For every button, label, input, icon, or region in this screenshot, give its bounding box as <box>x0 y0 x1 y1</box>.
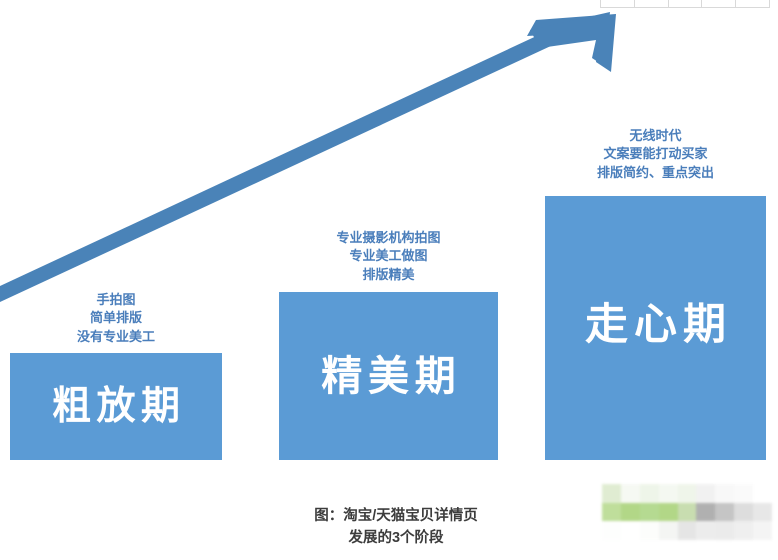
watermark-tile <box>602 484 621 503</box>
watermark-tile <box>640 521 659 540</box>
watermark-tile <box>696 521 715 540</box>
stage-1-label: 粗放期 <box>47 387 186 426</box>
grid-cell <box>601 0 635 7</box>
watermark-tile <box>678 503 697 522</box>
stage-1-annotation: 手拍图 简单排版 没有专业美工 <box>10 291 222 346</box>
watermark-tile <box>715 484 734 503</box>
annotation-line: 简单排版 <box>10 309 222 327</box>
watermark-tile <box>696 484 715 503</box>
watermark-tile <box>621 484 640 503</box>
blurred-watermark <box>602 484 772 540</box>
stage-2-label: 精美期 <box>316 356 462 397</box>
watermark-tile <box>678 521 697 540</box>
watermark-tile <box>659 484 678 503</box>
stage-2-annotation: 专业摄影机构拍图 专业美工做图 排版精美 <box>279 229 498 284</box>
grid-cell <box>635 0 669 7</box>
watermark-tile <box>640 484 659 503</box>
watermark-tile <box>602 503 621 522</box>
table-grid-fragment <box>600 0 770 8</box>
watermark-tile <box>696 503 715 522</box>
watermark-tile <box>640 503 659 522</box>
stage-3-annotation: 无线时代 文案要能打动买家 排版简约、重点突出 <box>545 127 766 182</box>
annotation-line: 手拍图 <box>10 291 222 309</box>
watermark-tile <box>734 484 753 503</box>
watermark-tile <box>753 521 772 540</box>
stage-1-bar: 粗放期 <box>10 353 222 460</box>
stage-3-label: 走心期 <box>579 304 732 347</box>
annotation-line: 排版精美 <box>279 266 498 284</box>
diagram-canvas: 手拍图 简单排版 没有专业美工 粗放期 专业摄影机构拍图 专业美工做图 排版精美… <box>0 0 778 560</box>
figure-caption-line-1: 图：淘宝/天猫宝贝详情页 <box>268 506 524 528</box>
watermark-tile <box>621 503 640 522</box>
annotation-line: 没有专业美工 <box>10 328 222 346</box>
grid-cell <box>669 0 703 7</box>
figure-caption-line-2: 发展的3个阶段 <box>268 528 524 550</box>
stage-2-bar: 精美期 <box>279 292 498 460</box>
watermark-tile <box>678 484 697 503</box>
watermark-tile <box>659 521 678 540</box>
annotation-line: 专业摄影机构拍图 <box>279 229 498 247</box>
watermark-tile <box>659 503 678 522</box>
watermark-tile <box>734 503 753 522</box>
watermark-tile <box>753 503 772 522</box>
annotation-line: 专业美工做图 <box>279 247 498 265</box>
annotation-line: 排版简约、重点突出 <box>545 164 766 182</box>
annotation-line: 无线时代 <box>545 127 766 145</box>
watermark-tile <box>715 521 734 540</box>
grid-cell <box>736 0 769 7</box>
watermark-tile <box>734 521 753 540</box>
watermark-tile <box>753 484 772 503</box>
watermark-tile <box>621 521 640 540</box>
watermark-tile <box>602 521 621 540</box>
watermark-tile <box>715 503 734 522</box>
stage-3-bar: 走心期 <box>545 196 766 460</box>
grid-cell <box>702 0 736 7</box>
annotation-line: 文案要能打动买家 <box>545 145 766 163</box>
figure-caption: 图：淘宝/天猫宝贝详情页 发展的3个阶段 <box>268 506 524 550</box>
